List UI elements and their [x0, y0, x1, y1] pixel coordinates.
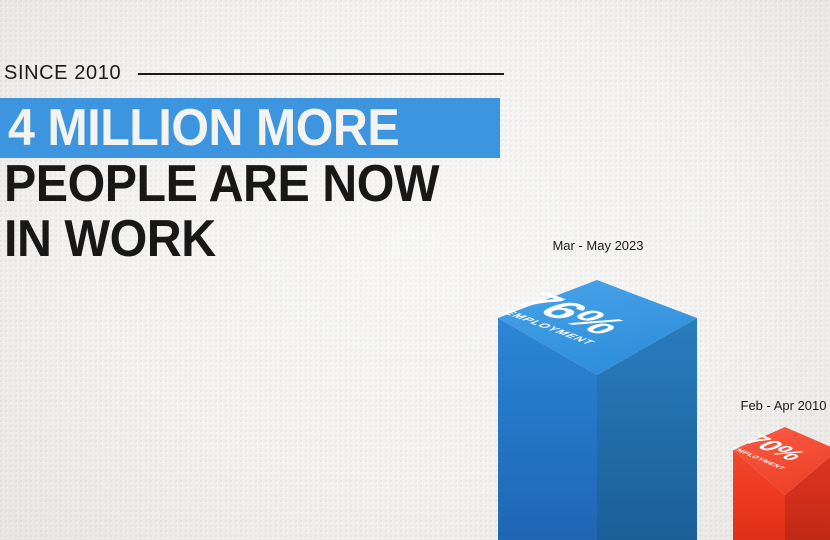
bar-group-2023: Mar - May 2023 76%: [498, 238, 698, 540]
bar-group-2010: Feb - Apr 2010 70%: [733, 398, 830, 540]
kicker-label: SINCE 2010: [4, 62, 121, 85]
highlight-banner: 4 MILLION MORE: [0, 98, 500, 158]
bar-cube-2023: [498, 238, 698, 540]
headline-line-3: IN WORK: [4, 212, 216, 266]
banner-headline-text: 4 MILLION MORE: [8, 102, 399, 154]
bar-cube-2010: [733, 398, 830, 540]
kicker-divider: [138, 73, 504, 75]
headline-line-2: PEOPLE ARE NOW: [4, 157, 439, 211]
kicker-row: SINCE 2010: [4, 59, 504, 87]
